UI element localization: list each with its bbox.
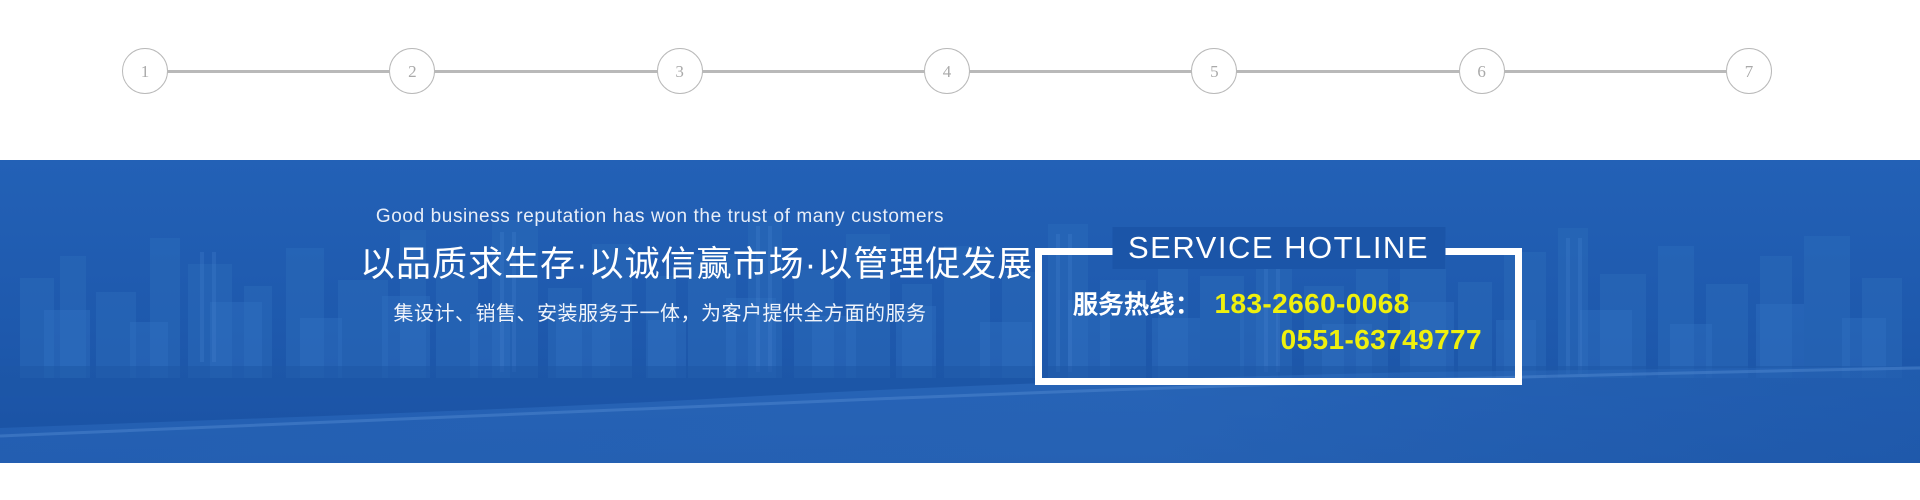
hotline-label: 服务热线： — [1073, 289, 1201, 321]
step-connector-6-7 — [1504, 70, 1727, 73]
slogan-english: Good business reputation has won the tru… — [360, 206, 960, 229]
page-root: 1 2 3 4 5 6 7 — [0, 0, 1920, 500]
slogan-chinese-subtitle: 集设计、销售、安装服务于一体，为客户提供全方面的服务 — [360, 301, 960, 327]
step-number-label: 4 — [943, 63, 952, 80]
step-node-6[interactable]: 6 — [1459, 48, 1505, 94]
hotline-row-secondary: 0551-63749777 — [1073, 322, 1500, 358]
step-node-7[interactable]: 7 — [1726, 48, 1772, 94]
hotline-number-list: 服务热线： 183-2660-0068 0551-63749777 — [1035, 286, 1522, 358]
step-number-label: 7 — [1745, 63, 1754, 80]
step-connector-3-4 — [702, 70, 925, 73]
step-connector-1-2 — [167, 70, 390, 73]
step-connector-2-3 — [434, 70, 657, 73]
banner-content: Good business reputation has won the tru… — [0, 160, 1920, 463]
hotline-number-primary[interactable]: 183-2660-0068 — [1215, 286, 1410, 322]
hotline-number-secondary[interactable]: 0551-63749777 — [1281, 322, 1482, 358]
step-node-2[interactable]: 2 — [389, 48, 435, 94]
step-number-label: 1 — [141, 63, 150, 80]
hotline-row-primary: 服务热线： 183-2660-0068 — [1073, 286, 1500, 322]
step-number-label: 2 — [408, 63, 417, 80]
step-number-label: 6 — [1477, 63, 1486, 80]
hotline-title: SERVICE HOTLINE — [1112, 227, 1445, 269]
step-connector-4-5 — [969, 70, 1192, 73]
slogan-chinese-headline: 以品质求生存·以诚信赢市场·以管理促发展 — [360, 243, 960, 287]
step-node-1[interactable]: 1 — [122, 48, 168, 94]
step-indicator: 1 2 3 4 5 6 7 — [0, 0, 1920, 160]
promo-banner: Good business reputation has won the tru… — [0, 160, 1920, 463]
service-hotline-box: SERVICE HOTLINE 服务热线： 183-2660-0068 0551… — [1035, 248, 1522, 385]
step-node-5[interactable]: 5 — [1191, 48, 1237, 94]
slogan-block: Good business reputation has won the tru… — [360, 206, 960, 327]
step-number-label: 3 — [675, 63, 684, 80]
step-connector-5-6 — [1236, 70, 1459, 73]
step-node-4[interactable]: 4 — [924, 48, 970, 94]
step-node-3[interactable]: 3 — [657, 48, 703, 94]
step-number-label: 5 — [1210, 63, 1219, 80]
